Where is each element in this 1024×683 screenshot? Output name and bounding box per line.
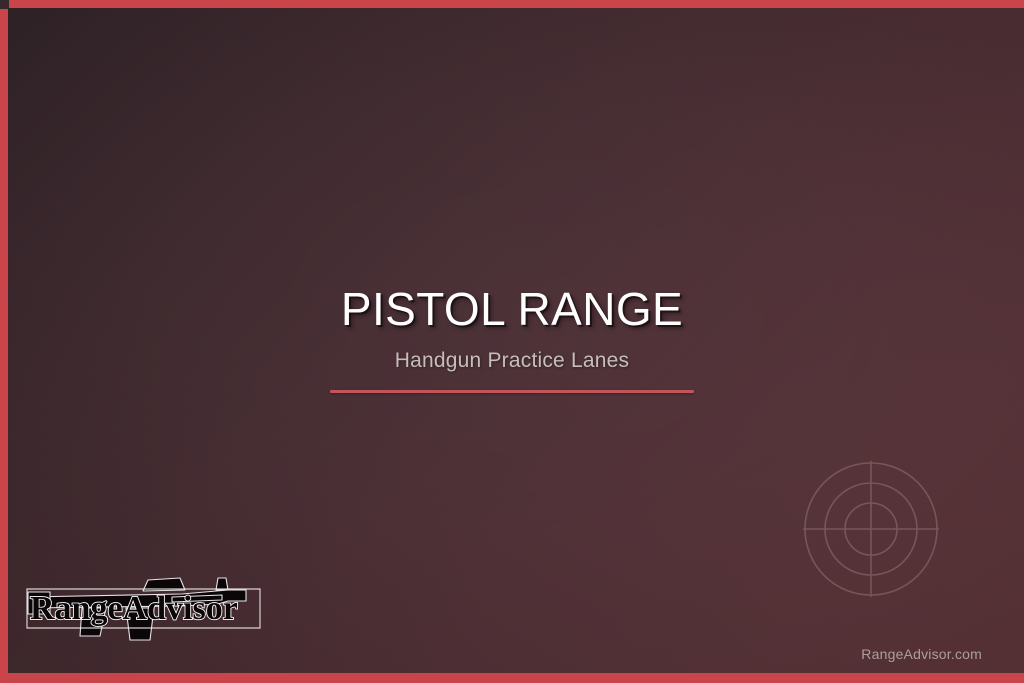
- target-crosshair-icon: [803, 461, 939, 597]
- page-title: PISTOL RANGE: [0, 285, 1024, 335]
- title-block: PISTOL RANGE Handgun Practice Lanes: [0, 285, 1024, 393]
- frame-border-left: [0, 0, 8, 683]
- footer-url: RangeAdvisor.com: [861, 646, 982, 662]
- page-subtitle: Handgun Practice Lanes: [0, 349, 1024, 373]
- svg-text:RangeAdvisor: RangeAdvisor: [30, 590, 238, 627]
- frame-corner-notch: [0, 0, 9, 9]
- logo-wordmark: RangeAdvisor: [30, 590, 238, 627]
- brand-logo: RangeAdvisor: [22, 556, 267, 650]
- frame-border-bottom: [0, 673, 1024, 683]
- presentation-slide: PISTOL RANGE Handgun Practice Lanes: [0, 0, 1024, 683]
- accent-divider: [330, 390, 694, 393]
- frame-border-top: [0, 0, 1024, 8]
